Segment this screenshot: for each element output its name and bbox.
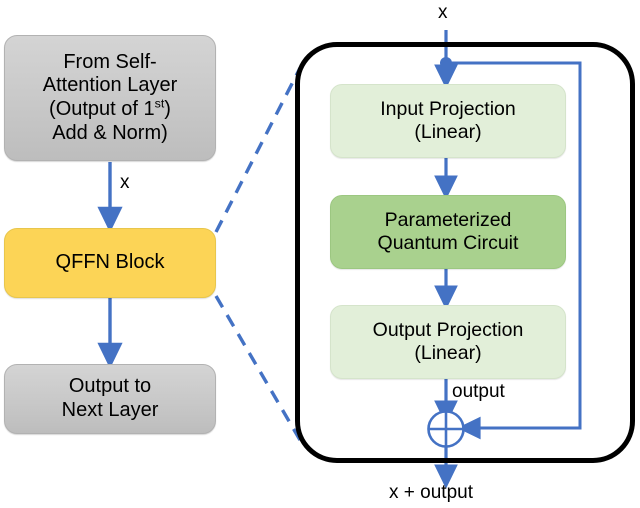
node-parameterized-quantum-circuit-label: Parameterized Quantum Circuit (331, 209, 565, 255)
text-line: (Linear) (337, 342, 559, 365)
text-line: Output to (11, 375, 209, 399)
edge-label-left-x: x (120, 172, 130, 194)
text-line: From Self- (11, 51, 209, 75)
ordinal-superscript: st (155, 96, 165, 110)
text-line: Add & Norm) (11, 122, 209, 146)
label-input-x: x (438, 2, 448, 24)
node-parameterized-quantum-circuit[interactable]: Parameterized Quantum Circuit (330, 195, 566, 269)
node-qffn-block[interactable]: QFFN Block (4, 228, 216, 298)
node-output-to-next-layer-label: Output to Next Layer (5, 375, 215, 422)
node-output-to-next-layer[interactable]: Output to Next Layer (4, 364, 216, 434)
text-line: (Linear) (337, 121, 559, 144)
text-line: Parameterized (337, 209, 559, 232)
diagram-canvas: From Self- Attention Layer (Output of 1s… (0, 0, 640, 508)
edge-label-output: output (452, 381, 505, 403)
label-x-plus-output: x + output (389, 482, 473, 504)
dashed-expansion-lines (216, 68, 300, 440)
text-line: Attention Layer (11, 74, 209, 98)
text-line-superscript: (Output of 1st) (11, 98, 209, 122)
node-qffn-block-label: QFFN Block (5, 251, 215, 275)
text-line-part: (Output of 1 (49, 98, 155, 120)
node-output-projection[interactable]: Output Projection (Linear) (330, 305, 566, 379)
node-from-self-attention-layer[interactable]: From Self- Attention Layer (Output of 1s… (4, 35, 216, 161)
text-line: QFFN Block (11, 251, 209, 275)
node-output-projection-label: Output Projection (Linear) (331, 319, 565, 365)
node-from-self-attention-layer-label: From Self- Attention Layer (Output of 1s… (5, 51, 215, 145)
text-line: Input Projection (337, 98, 559, 121)
text-line: Quantum Circuit (337, 232, 559, 255)
text-line: Next Layer (11, 399, 209, 423)
node-input-projection-label: Input Projection (Linear) (331, 98, 565, 144)
text-line: Output Projection (337, 319, 559, 342)
node-input-projection[interactable]: Input Projection (Linear) (330, 84, 566, 158)
